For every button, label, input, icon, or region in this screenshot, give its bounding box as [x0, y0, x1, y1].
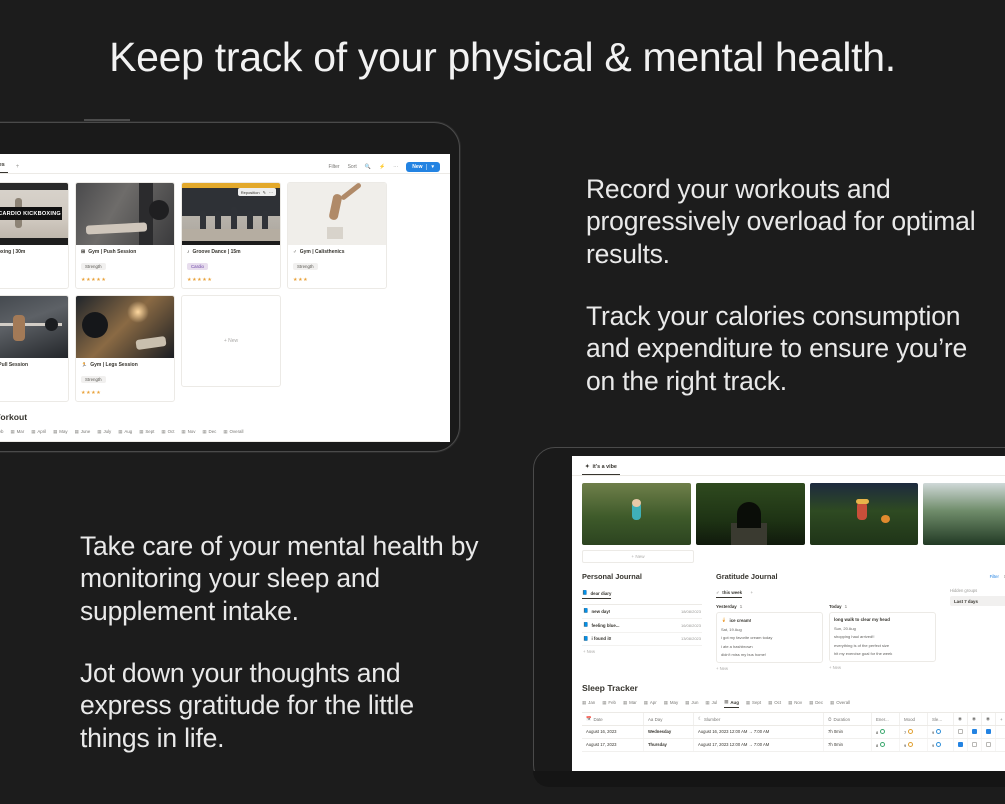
cell-duration[interactable]: 7h 0min [824, 726, 872, 738]
routine-thumbnail [76, 296, 174, 358]
gratitude-card-line: hit my exercise goal for the week [834, 651, 931, 656]
gratitude-card-line: i got my favorite cream today [721, 635, 818, 640]
routine-title-row: ⊞ Gym | Push Session [81, 249, 169, 255]
cell-slumber[interactable]: August 17, 2023 12:00 AM → 7:00 AM [694, 739, 824, 751]
progress-ring-icon [936, 742, 941, 747]
sleep-tracker-table: 📅Date Aa Day ☾Slumber ⏱Duration Ener... … [582, 712, 1005, 752]
add-column-button[interactable]: + [996, 713, 1005, 725]
sort-button[interactable]: Sort [348, 164, 357, 170]
grid-icon: ▦ [685, 700, 689, 706]
entry-name: 📘 new day! [583, 608, 610, 614]
cell-date[interactable]: August 17, 2023 [582, 739, 644, 751]
add-tab-button[interactable]: + [16, 164, 20, 170]
column-header-check-1[interactable]: ◉ [954, 713, 968, 725]
grid-icon: ▦ [10, 429, 14, 435]
routine-thumbnail: 30 MIN CARDIO KICKBOXING [0, 183, 68, 245]
progress-ring-icon [880, 729, 885, 734]
copy-right-paragraph-1: Record your workouts and progressively o… [586, 173, 986, 270]
month-tab-dec[interactable]: ▦Dec [202, 428, 216, 437]
grid-icon: ▦ [768, 700, 772, 706]
groove-dance-image: Reposition ✎ ⋯ [182, 183, 280, 245]
side-panel-controls: Filter Sort 🔍 ⚡ [950, 574, 1005, 580]
ellipsis-icon[interactable]: ⋯ [269, 190, 273, 195]
checkbox-icon[interactable] [986, 742, 991, 747]
month-tab-jun[interactable]: ▦Jun [685, 699, 698, 708]
journal-tablet-chin [533, 771, 1005, 787]
month-tab-jul[interactable]: ▦Jul [705, 699, 717, 708]
filter-button[interactable]: Filter [990, 574, 999, 580]
copy-left-paragraph-1: Take care of your mental health by monit… [80, 530, 480, 627]
grid-icon: ▦ [746, 700, 750, 706]
month-tab-june[interactable]: ▦June [75, 428, 91, 437]
person-icon: ♂ [293, 249, 297, 255]
gratitude-card[interactable]: 🍦 ice cream! Sat, 19 Aug i got my favori… [716, 612, 823, 663]
kanban-column-count: 1 [845, 604, 847, 609]
copy-right-paragraph-2: Track your calories consumption and expe… [586, 300, 986, 397]
table-row[interactable]: August 17, 2023 Thursday August 17, 2023… [582, 739, 1005, 752]
grid-icon: ▦ [31, 429, 35, 435]
routine-meta: 🥊 Kickboxing | 30m Cardio ★★★★★ [0, 245, 68, 288]
kickboxing-image: 30 MIN CARDIO KICKBOXING [0, 183, 68, 245]
cell-check-2[interactable] [968, 739, 982, 751]
cell-spacer [996, 739, 1005, 751]
grid-icon: ▦ [118, 429, 122, 435]
grid-icon: ▦ [830, 700, 834, 706]
gratitude-journal-title: Gratitude Journal [716, 572, 936, 581]
routine-rating: ★★★★★ [0, 390, 63, 396]
journal-tablet-frame: ✦ it's a vibe + New Personal Journal [533, 447, 1005, 787]
book-icon: 📘 [583, 636, 588, 642]
routine-tag: Strength [293, 263, 318, 270]
routine-card[interactable]: 30 MIN CARDIO KICKBOXING 🥊 Kickboxing | … [0, 182, 69, 289]
routine-thumbnail: Reposition ✎ ⋯ [182, 183, 280, 245]
hidden-groups-label: Hidden groups [950, 588, 1005, 593]
clock-icon: ⏱ [828, 717, 831, 722]
gratitude-card-date: Sun, 20 Aug [834, 626, 931, 631]
personal-journal-title: Personal Journal [582, 572, 702, 581]
grid-icon: ▦ [582, 700, 586, 706]
book-icon: 📘 [583, 622, 588, 628]
grid-icon: ▦ [724, 699, 728, 705]
gratitude-card-line: i ate a hashbrown [721, 644, 818, 649]
progress-ring-icon [880, 742, 885, 747]
entry-date: 16/08/2023 [681, 623, 701, 628]
routine-meta: ← Gym | Pull Session Strength ★★★★★ [0, 358, 68, 401]
filter-button[interactable]: Filter [328, 164, 339, 170]
workout-tablet-frame: 💪 Routines + Filter Sort 🔍 ⚡ ⋯ New ▾ [0, 122, 460, 452]
add-mood-image-button[interactable]: + New [582, 550, 694, 563]
routine-card[interactable]: ← Gym | Pull Session Strength ★★★★★ [0, 295, 69, 402]
gratitude-card-date: Sat, 19 Aug [721, 627, 818, 632]
checkbox-icon[interactable] [972, 729, 977, 734]
routine-meta: ⊞ Gym | Push Session Strength ★★★★★ [76, 245, 174, 288]
routine-thumbnail [288, 183, 386, 245]
column-header-mood[interactable]: Mood [900, 713, 928, 725]
music-icon: ♪ [187, 249, 190, 255]
new-button[interactable]: New ▾ [406, 162, 440, 172]
copy-left-paragraph-2: Jot down your thoughts and express grati… [80, 657, 480, 754]
list-item[interactable]: 📘 feeling blue... 16/08/2023 [582, 619, 702, 633]
progress-ring-icon [936, 729, 941, 734]
kanban-column-header: Today 1 [829, 604, 936, 612]
month-tab-nov[interactable]: ▦Nov [181, 428, 195, 437]
checkbox-icon[interactable] [958, 729, 963, 734]
cell-day[interactable]: Wednesday [644, 726, 694, 738]
promo-page: Keep track of your physical & mental hea… [0, 0, 1005, 804]
routine-tag: Cardio [187, 263, 208, 270]
sleep-tracker-section: Sleep Tracker ▦Jan ▦Feb ▦Mar ▦Apr ▦May ▦… [572, 671, 1005, 752]
edit-icon[interactable]: ✎ [263, 190, 266, 195]
page-headline: Keep track of your physical & mental hea… [0, 34, 1005, 81]
hidden-group-chip[interactable]: Last 7 days 0 [950, 596, 1005, 606]
entry-date: 13/08/2023 [681, 636, 701, 641]
gratitude-card-line: everything is of the perfect size [834, 643, 931, 648]
leg-icon: 🏃 [81, 362, 87, 368]
sleep-tracker-title: Sleep Tracker [582, 683, 1005, 693]
lightning-icon[interactable]: ⚡ [379, 164, 385, 170]
kanban-column-today: Today 1 long walk to clear my head Sun, … [829, 604, 936, 671]
routine-tag: Strength [81, 376, 106, 383]
journal-entry-list: 📘 new day! 18/08/2023 📘 feeling blue... [582, 604, 702, 657]
cell-energy[interactable]: 8 [872, 739, 900, 751]
grid-icon: ▦ [623, 700, 627, 706]
routine-title-row: ← Gym | Pull Session [0, 362, 63, 368]
gratitude-card-line: shopping haul arrived!! [834, 634, 931, 639]
tab-dear-diary[interactable]: 📘 dear diary [582, 590, 611, 599]
cell-energy[interactable]: 8 [872, 726, 900, 738]
gym-push-image [76, 183, 174, 245]
grid-icon: ▦ [664, 700, 668, 706]
grid-icon: ▦ [644, 700, 648, 706]
routine-rating: ★★★ [293, 277, 381, 283]
push-workout-section: Push Workout ▦Jan ▦Feb ▦Mar ▦April ▦May … [0, 402, 450, 442]
copy-block-right: Record your workouts and progressively o… [586, 173, 986, 397]
mood-image-4[interactable] [923, 483, 1005, 545]
entry-date: 18/08/2023 [681, 609, 701, 614]
cell-sleep-quality[interactable]: 9 [928, 739, 954, 751]
cell-spacer [996, 726, 1005, 738]
grid-icon: ▦ [705, 700, 709, 706]
month-tab-aug[interactable]: ▦Aug [118, 428, 132, 437]
gratitude-card-line: didn't miss my bus home! [721, 652, 818, 657]
dumbbell-icon: ⊞ [81, 249, 85, 255]
cell-mood[interactable]: 7 [900, 726, 928, 738]
routine-meta: ♪ Groove Dance | 15m Cardio ★★★★★ [182, 245, 280, 288]
personal-journal-section: Personal Journal 📘 dear diary 📘 new day! [582, 572, 702, 671]
copy-block-left: Take care of your mental health by monit… [80, 530, 480, 754]
grid-icon: ▦ [75, 429, 79, 435]
checkbox-icon[interactable] [958, 742, 963, 747]
grid-icon: ▦ [223, 429, 227, 435]
tab-routines[interactable]: 💪 Routines [0, 160, 8, 173]
add-gratitude-card-button[interactable]: + New [829, 662, 936, 670]
grid-icon: ▦ [809, 700, 813, 706]
cell-check-2[interactable] [968, 726, 982, 738]
column-header-check-2[interactable]: ◉ [968, 713, 982, 725]
table-row[interactable]: August 16, 2023 Wednesday August 16, 202… [582, 726, 1005, 739]
mood-gallery [572, 476, 1005, 545]
gratitude-card[interactable]: long walk to clear my head Sun, 20 Aug s… [829, 612, 936, 662]
routine-card[interactable]: Reposition ✎ ⋯ ♪ Groove Dance | 15m [181, 182, 281, 289]
journals-row: Personal Journal 📘 dear diary 📘 new day! [572, 563, 1005, 671]
table-header-row: 📅Date Aa Day ☾Slumber ⏱Duration Ener... … [582, 713, 1005, 726]
mood-image-3[interactable] [810, 483, 919, 545]
gym-pull-image [0, 296, 68, 358]
journal-app: ✦ it's a vibe + New Personal Journal [572, 456, 1005, 772]
routine-meta: 🏃 Gym | Legs Session Strength ★★★★ [76, 358, 174, 401]
push-workout-title: Push Workout [0, 412, 440, 422]
cell-check-3[interactable] [982, 726, 996, 738]
gratitude-journal-section: Gratitude Journal ♂ this week + Yesterda… [716, 572, 936, 671]
add-gratitude-tab-button[interactable]: + [751, 590, 754, 595]
add-routine-card[interactable]: + New [181, 295, 281, 387]
routine-thumbnail [76, 183, 174, 245]
month-tab-apr[interactable]: ▦Apr [644, 699, 657, 708]
column-header-slumber[interactable]: ☾Slumber [694, 713, 824, 725]
list-item[interactable]: 📘 i found it! 13/08/2023 [582, 633, 702, 647]
workout-tabbar: 💪 Routines + Filter Sort 🔍 ⚡ ⋯ New ▾ [0, 154, 450, 174]
gratitude-kanban: Yesterday 1 🍦 ice cream! Sat, 19 Aug [716, 604, 936, 671]
grid-icon: ▦ [788, 700, 792, 706]
month-tab-feb[interactable]: ▦Feb [0, 428, 3, 437]
tab-its-a-vibe[interactable]: ✦ it's a vibe [582, 462, 620, 475]
month-tab-mar[interactable]: ▦Mar [10, 428, 24, 437]
routine-title-row: ♂ Gym | Calisthenics [293, 249, 381, 255]
routine-meta: ♂ Gym | Calisthenics Strength ★★★ [288, 245, 386, 288]
entry-name: 📘 feeling blue... [583, 622, 620, 628]
month-tab-july[interactable]: ▦July [97, 428, 111, 437]
routine-rating: ★★★★★ [81, 277, 169, 283]
cell-duration[interactable]: 7h 0min [824, 739, 872, 751]
cell-slumber[interactable]: August 16, 2023 12:00 AM → 7:00 AM [694, 726, 824, 738]
routine-rating: ★★★★ [81, 390, 169, 396]
cell-check-1[interactable] [954, 726, 968, 738]
column-header-sleep-quality[interactable]: Sle... [928, 713, 954, 725]
kanban-column-yesterday: Yesterday 1 🍦 ice cream! Sat, 19 Aug [716, 604, 823, 671]
gratitude-side-panel: Filter Sort 🔍 ⚡ Hidden groups Last 7 day… [950, 572, 1005, 671]
column-header-date[interactable]: 📅Date [582, 713, 644, 725]
ice-cream-icon: 🍦 [721, 617, 726, 623]
mood-image-1[interactable] [582, 483, 691, 545]
cell-mood[interactable]: 9 [900, 739, 928, 751]
routine-card[interactable]: ⊞ Gym | Push Session Strength ★★★★★ [75, 182, 175, 289]
cell-date[interactable]: August 16, 2023 [582, 726, 644, 738]
cell-sleep-quality[interactable]: 9 [928, 726, 954, 738]
routine-title-row: 🏃 Gym | Legs Session [81, 362, 169, 368]
moon-icon: ☾ [698, 716, 702, 722]
add-entry-button[interactable]: + New [582, 646, 702, 657]
month-tab-jan[interactable]: ▦Jan [582, 699, 595, 708]
routine-title-row: 🥊 Kickboxing | 30m [0, 249, 63, 255]
kanban-column-header: Yesterday 1 [716, 604, 823, 612]
checkbox-icon[interactable] [986, 729, 991, 734]
month-tab-sept[interactable]: ▦Sept [139, 428, 154, 437]
grid-icon: ▦ [97, 429, 101, 435]
routines-gallery: 30 MIN CARDIO KICKBOXING 🥊 Kickboxing | … [0, 174, 450, 402]
calendar-icon: 📅 [586, 716, 591, 722]
month-tab-overall[interactable]: ▦Overall [223, 428, 243, 437]
new-button-divider [426, 164, 427, 170]
month-tab-april[interactable]: ▦April [31, 428, 46, 437]
month-tab-oct[interactable]: ▦Oct [161, 428, 174, 437]
progress-ring-icon [908, 742, 913, 747]
book-icon: 📘 [582, 590, 587, 596]
checkbox-icon[interactable] [972, 742, 977, 747]
column-header-day[interactable]: Aa Day [644, 713, 694, 725]
mood-image-2[interactable] [696, 483, 805, 545]
reposition-overlay[interactable]: Reposition ✎ ⋯ [238, 188, 276, 196]
list-item[interactable]: 📘 new day! 18/08/2023 [582, 605, 702, 619]
person-icon: ♂ [716, 590, 719, 595]
grid-icon: ▦ [202, 429, 206, 435]
gratitude-card-title-row: 🍦 ice cream! [721, 617, 818, 623]
workout-tablet-screen: 💪 Routines + Filter Sort 🔍 ⚡ ⋯ New ▾ [0, 154, 450, 442]
gym-legs-image [76, 296, 174, 358]
journal-tablet-screen: ✦ it's a vibe + New Personal Journal [572, 456, 1005, 772]
month-tab-may[interactable]: ▦May [53, 428, 67, 437]
calisthenics-image [288, 183, 386, 245]
sleep-tracker-month-tabs: ▦Jan ▦Feb ▦Mar ▦Apr ▦May ▦Jun ▦Jul ▦Aug … [582, 699, 1005, 708]
month-tab-sept[interactable]: ▦Sept [746, 699, 761, 708]
grid-icon: ▦ [53, 429, 57, 435]
month-tab-overall[interactable]: ▦Overall [830, 699, 850, 708]
routine-rating: ★★★★★ [187, 277, 275, 283]
push-workout-table: Aa Day 📅Date ≡Bench Press ≡Incline Bench… [0, 441, 440, 442]
add-gratitude-card-button[interactable]: + New [716, 663, 823, 671]
column-header-duration[interactable]: ⏱Duration [824, 713, 872, 725]
routine-thumbnail [0, 296, 68, 358]
push-workout-month-tabs: ▦Jan ▦Feb ▦Mar ▦April ▦May ▦June ▦July ▦… [0, 428, 440, 437]
sparkle-icon: ✦ [585, 464, 590, 470]
chevron-down-icon: ▾ [431, 164, 434, 170]
grid-icon: ▦ [139, 429, 143, 435]
routine-tag: Strength [81, 263, 106, 270]
grid-icon: ▦ [181, 429, 185, 435]
entry-name: 📘 i found it! [583, 636, 611, 642]
kanban-column-count: 1 [740, 604, 742, 609]
progress-ring-icon [908, 729, 913, 734]
ellipsis-icon[interactable]: ⋯ [393, 164, 398, 170]
column-header-energy[interactable]: Ener... [872, 713, 900, 725]
journal-tabbar: ✦ it's a vibe [572, 456, 1005, 476]
routine-title-row: ♪ Groove Dance | 15m [187, 249, 275, 255]
workout-app: 💪 Routines + Filter Sort 🔍 ⚡ ⋯ New ▾ [0, 154, 450, 442]
routine-card[interactable]: ♂ Gym | Calisthenics Strength ★★★ [287, 182, 387, 289]
month-tab-aug[interactable]: ▦Aug [724, 699, 739, 708]
grid-icon: ▦ [161, 429, 165, 435]
month-tab-dec[interactable]: ▦Dec [809, 699, 823, 708]
book-icon: 📘 [583, 608, 588, 614]
gratitude-card-title-row: long walk to clear my head [834, 617, 931, 622]
month-tab-may[interactable]: ▦May [664, 699, 678, 708]
search-icon[interactable]: 🔍 [365, 164, 371, 170]
grid-icon: ▦ [602, 700, 606, 706]
month-tab-oct[interactable]: ▦Oct [768, 699, 781, 708]
cell-check-1[interactable] [954, 739, 968, 751]
tab-this-week[interactable]: ♂ this week [716, 590, 742, 598]
routine-card[interactable]: 🏃 Gym | Legs Session Strength ★★★★ [75, 295, 175, 402]
routine-rating: ★★★★★ [0, 277, 63, 283]
cell-check-3[interactable] [982, 739, 996, 751]
column-header-check-3[interactable]: ◉ [982, 713, 996, 725]
month-tab-mar[interactable]: ▦Mar [623, 699, 637, 708]
month-tab-nov[interactable]: ▦Nov [788, 699, 802, 708]
cell-day[interactable]: Thursday [644, 739, 694, 751]
month-tab-feb[interactable]: ▦Feb [602, 699, 616, 708]
